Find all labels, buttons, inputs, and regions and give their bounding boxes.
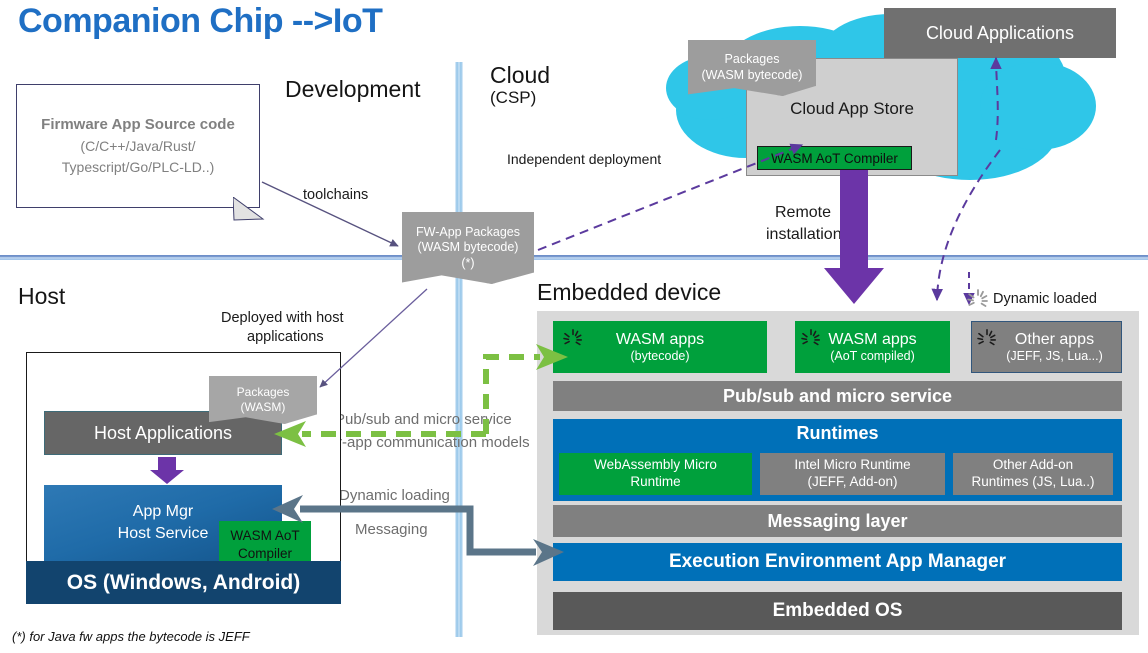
zone-host-label: Host bbox=[18, 283, 65, 310]
zone-development-label: Development bbox=[285, 76, 421, 103]
firmware-line1: (C/C++/Java/Rust/ bbox=[80, 137, 195, 156]
app-label-3-line2: (JEFF, JS, Lua...) bbox=[1006, 349, 1103, 364]
callout-tail-icon bbox=[233, 197, 265, 221]
app-label-1-line2: (bytecode) bbox=[630, 349, 689, 364]
cloud-packages-line2: (WASM bytecode) bbox=[702, 68, 803, 84]
horizontal-divider bbox=[0, 255, 1148, 260]
messaging-label: Messaging bbox=[355, 521, 428, 538]
app-label-2-line2: (AoT compiled) bbox=[830, 349, 915, 364]
footnote-text: (*) for Java fw apps the bytecode is JEF… bbox=[12, 629, 250, 644]
dynamic-loading-label: Dynamic loading bbox=[339, 487, 450, 504]
host-applications-box[interactable]: Host Applications bbox=[44, 411, 282, 455]
independent-deployment-label: Independent deployment bbox=[507, 151, 661, 167]
zone-embedded-label: Embedded device bbox=[537, 279, 721, 306]
page-title: Companion Chip -->IoT bbox=[18, 2, 382, 41]
remote-install-line1: Remote bbox=[775, 204, 831, 222]
toolchains-label: toolchains bbox=[303, 187, 368, 203]
host-aot-line1: WASM AoT bbox=[230, 527, 299, 545]
appmgr-line1: App Mgr bbox=[133, 501, 193, 523]
runtime-other-addon[interactable]: Other Add-on Runtimes (JS, Lua..) bbox=[953, 453, 1113, 495]
pubsub-models-line1: Pub/sub and micro service bbox=[335, 411, 512, 428]
runtime-2-line2: (JEFF, Add-on) bbox=[807, 474, 897, 491]
firmware-heading: Firmware App Source code bbox=[41, 115, 235, 135]
cloud-wasm-aot-compiler[interactable]: WASM AoT Compiler bbox=[757, 146, 912, 170]
dynamic-loaded-spinner-icon bbox=[976, 328, 998, 350]
runtime-2-line1: Intel Micro Runtime bbox=[794, 457, 910, 474]
embedded-app-wasm-bytecode[interactable]: WASM apps (bytecode) bbox=[553, 321, 767, 373]
runtime-webassembly-micro[interactable]: WebAssembly Micro Runtime bbox=[559, 453, 752, 495]
embedded-pubsub-band[interactable]: Pub/sub and micro service bbox=[553, 381, 1122, 411]
runtime-1-line2: Runtime bbox=[630, 474, 680, 491]
fwapp-line1: FW-App Packages bbox=[416, 225, 520, 241]
app-label-2-line1: WASM apps bbox=[828, 330, 916, 349]
app-label-1-line1: WASM apps bbox=[616, 330, 704, 349]
embedded-os-band[interactable]: Embedded OS bbox=[553, 592, 1122, 630]
dynamic-loaded-legend-spinner-icon bbox=[966, 288, 990, 312]
embedded-messaging-layer-band[interactable]: Messaging layer bbox=[553, 505, 1122, 537]
runtime-intel-micro[interactable]: Intel Micro Runtime (JEFF, Add-on) bbox=[760, 453, 945, 495]
host-os-band[interactable]: OS (Windows, Android) bbox=[26, 561, 341, 604]
host-packages-line2: (WASM) bbox=[241, 400, 286, 415]
runtime-3-line1: Other Add-on bbox=[993, 457, 1073, 474]
dynamic-loaded-spinner-icon bbox=[800, 328, 822, 350]
zone-cloud-label: Cloud bbox=[490, 62, 550, 89]
runtime-3-line2: Runtimes (JS, Lua..) bbox=[971, 474, 1094, 491]
slide-canvas: Companion Chip -->IoT Cloud App Store WA… bbox=[0, 0, 1148, 653]
runtime-1-line1: WebAssembly Micro bbox=[594, 457, 717, 474]
firmware-line2: Typescript/Go/PLC-LD..) bbox=[62, 158, 215, 177]
dynamic-loaded-label: Dynamic loaded bbox=[993, 291, 1097, 307]
host-packages-callout: Packages (WASM) bbox=[209, 376, 317, 424]
fwapp-line2: (WASM bytecode) bbox=[418, 240, 519, 256]
app-label-3-line1: Other apps bbox=[1015, 330, 1094, 349]
fwapp-line3: (*) bbox=[461, 256, 474, 272]
host-packages-line1: Packages bbox=[237, 385, 290, 400]
deployed-with-host-line1: Deployed with host bbox=[221, 310, 344, 326]
cloud-app-store-label: Cloud App Store bbox=[747, 99, 957, 119]
deployed-with-host-line2: applications bbox=[247, 329, 324, 345]
fwapp-packages-callout: FW-App Packages (WASM bytecode) (*) bbox=[402, 212, 534, 284]
cloud-packages-callout: Packages (WASM bytecode) bbox=[688, 40, 816, 96]
host-aot-line2: Compiler bbox=[238, 545, 292, 563]
embedded-exec-env-band[interactable]: Execution Environment App Manager bbox=[553, 543, 1122, 581]
pubsub-models-line2: Inter-app communication models bbox=[312, 434, 530, 451]
cloud-packages-line1: Packages bbox=[725, 52, 780, 68]
dynamic-loaded-spinner-icon bbox=[562, 328, 584, 350]
cloud-applications-box[interactable]: Cloud Applications bbox=[884, 8, 1116, 58]
firmware-source-box: Firmware App Source code (C/C++/Java/Rus… bbox=[16, 84, 260, 208]
appmgr-line2: Host Service bbox=[118, 523, 209, 545]
remote-install-line2: installation bbox=[766, 226, 842, 244]
vertical-divider bbox=[455, 62, 463, 637]
zone-cloud-sublabel: (CSP) bbox=[490, 88, 536, 108]
